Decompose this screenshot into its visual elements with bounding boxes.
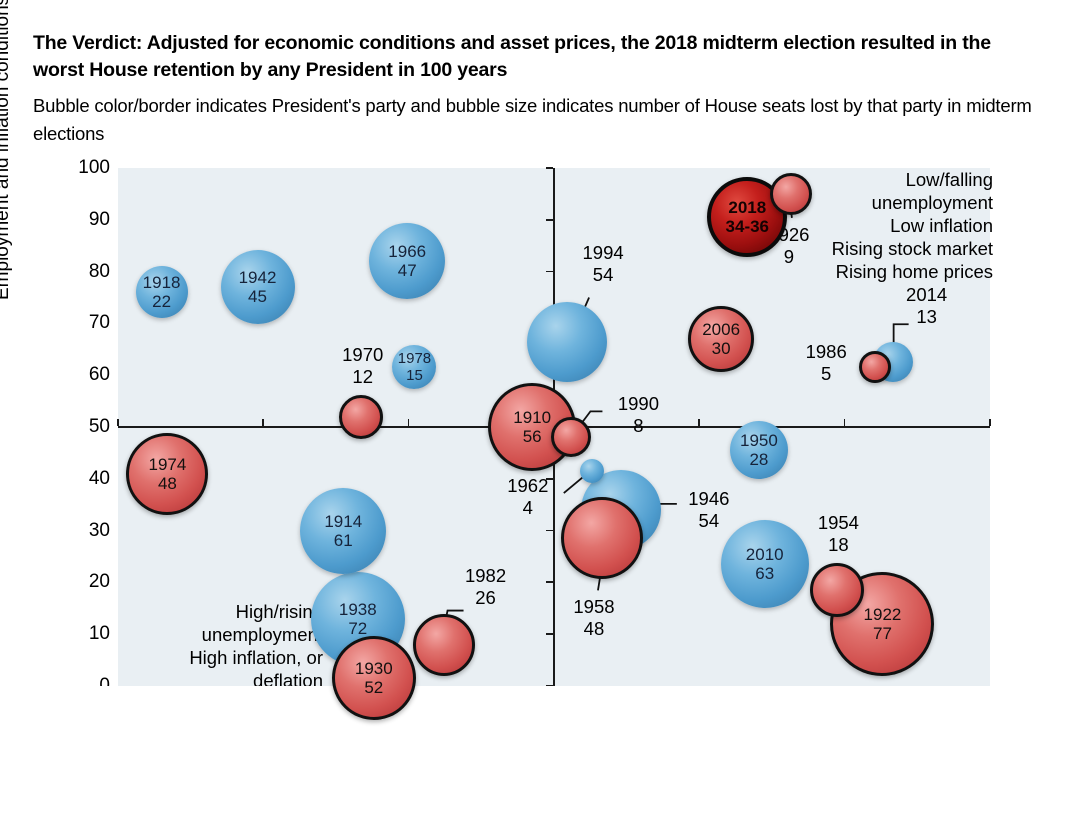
y-tick-label: 90 — [50, 209, 110, 231]
y-axis-tickmark — [546, 219, 553, 221]
bubble-seats: 28 — [749, 450, 768, 469]
bubble-year: 1978 — [398, 350, 431, 367]
bubble-callout-1994: 199454 — [583, 242, 624, 286]
bubble-year: 1946 — [688, 488, 729, 510]
bubble-1982[interactable] — [413, 614, 475, 676]
bubble-2010[interactable]: 201063 — [721, 520, 809, 608]
bubble-1914[interactable]: 191461 — [300, 488, 386, 574]
bubble-seats: 18 — [818, 534, 859, 556]
bubble-seats: 22 — [152, 292, 171, 311]
bubble-1958[interactable] — [561, 497, 643, 579]
bubble-year: 1930 — [355, 659, 393, 678]
x-axis-tickmark — [262, 419, 264, 426]
x-axis-tickmark — [844, 419, 846, 426]
y-tick-label: 10 — [50, 623, 110, 645]
bubble-seats: 5 — [806, 363, 847, 385]
bubble-seats: 54 — [688, 510, 729, 532]
bubble-seats: 52 — [364, 678, 383, 697]
bubble-1942[interactable]: 194245 — [221, 250, 295, 324]
bubble-callout-1982: 198226 — [465, 565, 506, 609]
bubble-1970[interactable] — [339, 395, 383, 439]
y-tick-label: 30 — [50, 520, 110, 542]
y-axis-tickmark — [546, 633, 553, 635]
y-axis-tickmark — [546, 530, 553, 532]
bubble-1978[interactable]: 197815 — [392, 345, 436, 389]
bubble-1994[interactable] — [527, 302, 607, 382]
bubble-year: 1918 — [143, 273, 181, 292]
y-axis-tickmark — [546, 271, 553, 273]
plot-bottom-mask — [0, 686, 1074, 824]
bubble-year: 1970 — [342, 344, 383, 366]
bubble-callout-1970: 197012 — [342, 344, 383, 388]
bubble-seats: 13 — [906, 306, 947, 328]
bubble-callout-1954: 195418 — [818, 512, 859, 556]
y-axis-tickmark — [546, 167, 553, 169]
y-axis-tickmark — [546, 581, 553, 583]
y-tick-label: 40 — [50, 468, 110, 490]
bubble-seats: 4 — [507, 497, 548, 519]
bubble-seats: 72 — [348, 619, 367, 638]
bubble-callout-2014: 201413 — [906, 284, 947, 328]
x-axis-tickmark — [698, 419, 700, 426]
bubble-1966[interactable]: 196647 — [369, 223, 445, 299]
y-tick-label: 100 — [50, 157, 110, 179]
bubble-seats: 15 — [406, 367, 423, 384]
bubble-seats: 26 — [465, 587, 506, 609]
bubble-seats: 9 — [768, 246, 809, 268]
bubble-chart: Employment and inflation conditions (100… — [0, 0, 1074, 824]
bubble-year: 1986 — [806, 341, 847, 363]
bubble-1918[interactable]: 191822 — [136, 266, 188, 318]
y-tick-label: 80 — [50, 261, 110, 283]
bubble-seats: 77 — [873, 624, 892, 643]
bubble-seats: 45 — [248, 287, 267, 306]
bubble-year: 2014 — [906, 284, 947, 306]
y-axis-label: Employment and inflation conditions (100… — [0, 0, 14, 300]
bubble-1954[interactable] — [810, 563, 864, 617]
bubble-year: 1966 — [388, 242, 426, 261]
x-axis-tickmark — [989, 419, 991, 426]
bubble-1974[interactable]: 197448 — [126, 433, 208, 515]
bubble-year: 1950 — [740, 431, 778, 450]
bubble-1950[interactable]: 195028 — [730, 421, 788, 479]
bubble-year: 1954 — [818, 512, 859, 534]
bubble-callout-1990: 19908 — [618, 393, 659, 437]
bubble-year: 1910 — [513, 408, 551, 427]
bubble-year: 1962 — [507, 475, 548, 497]
bubble-year: 1974 — [148, 455, 186, 474]
bubble-year: 1914 — [324, 512, 362, 531]
bubble-1962[interactable] — [580, 459, 604, 483]
bubble-1930[interactable]: 193052 — [332, 636, 416, 720]
bubble-seats: 54 — [583, 264, 624, 286]
y-tick-label: 70 — [50, 312, 110, 334]
y-tick-label: 50 — [50, 416, 110, 438]
bubble-seats: 63 — [755, 564, 774, 583]
bubble-year: 1994 — [583, 242, 624, 264]
bubble-year: 1922 — [864, 605, 902, 624]
bubble-year: 1982 — [465, 565, 506, 587]
bubble-callout-1946: 194654 — [688, 488, 729, 532]
bubble-callout-1958: 195848 — [573, 596, 614, 640]
x-axis-tickmark — [408, 419, 410, 426]
bubble-seats: 34-36 — [726, 217, 769, 236]
bubble-callout-1962: 19624 — [507, 475, 548, 519]
bubble-1986[interactable] — [859, 351, 891, 383]
bubble-1926[interactable] — [770, 173, 812, 215]
bubble-year: 2018 — [728, 198, 766, 217]
annotation-top-right: Low/falling unemployment Low inflation R… — [793, 168, 993, 283]
bubble-year: 2010 — [746, 545, 784, 564]
bubble-year: 1942 — [239, 268, 277, 287]
y-tick-label: 20 — [50, 571, 110, 593]
bubble-year: 2006 — [702, 320, 740, 339]
bubble-1990[interactable] — [551, 417, 591, 457]
bubble-year: 1938 — [339, 600, 377, 619]
bubble-seats: 56 — [523, 427, 542, 446]
y-tick-label: 60 — [50, 364, 110, 386]
bubble-year: 1958 — [573, 596, 614, 618]
bubble-seats: 61 — [334, 531, 353, 550]
bubble-2006[interactable]: 200630 — [688, 306, 754, 372]
bubble-seats: 48 — [573, 618, 614, 640]
bubble-callout-1986: 19865 — [806, 341, 847, 385]
bubble-seats: 12 — [342, 366, 383, 388]
bubble-seats: 8 — [618, 415, 659, 437]
x-axis-tickmark — [117, 419, 119, 426]
bubble-seats: 30 — [712, 339, 731, 358]
bubble-year: 1990 — [618, 393, 659, 415]
bubble-seats: 48 — [158, 474, 177, 493]
y-axis-ticks: 0102030405060708090100 — [38, 168, 110, 686]
bubble-seats: 47 — [398, 261, 417, 280]
